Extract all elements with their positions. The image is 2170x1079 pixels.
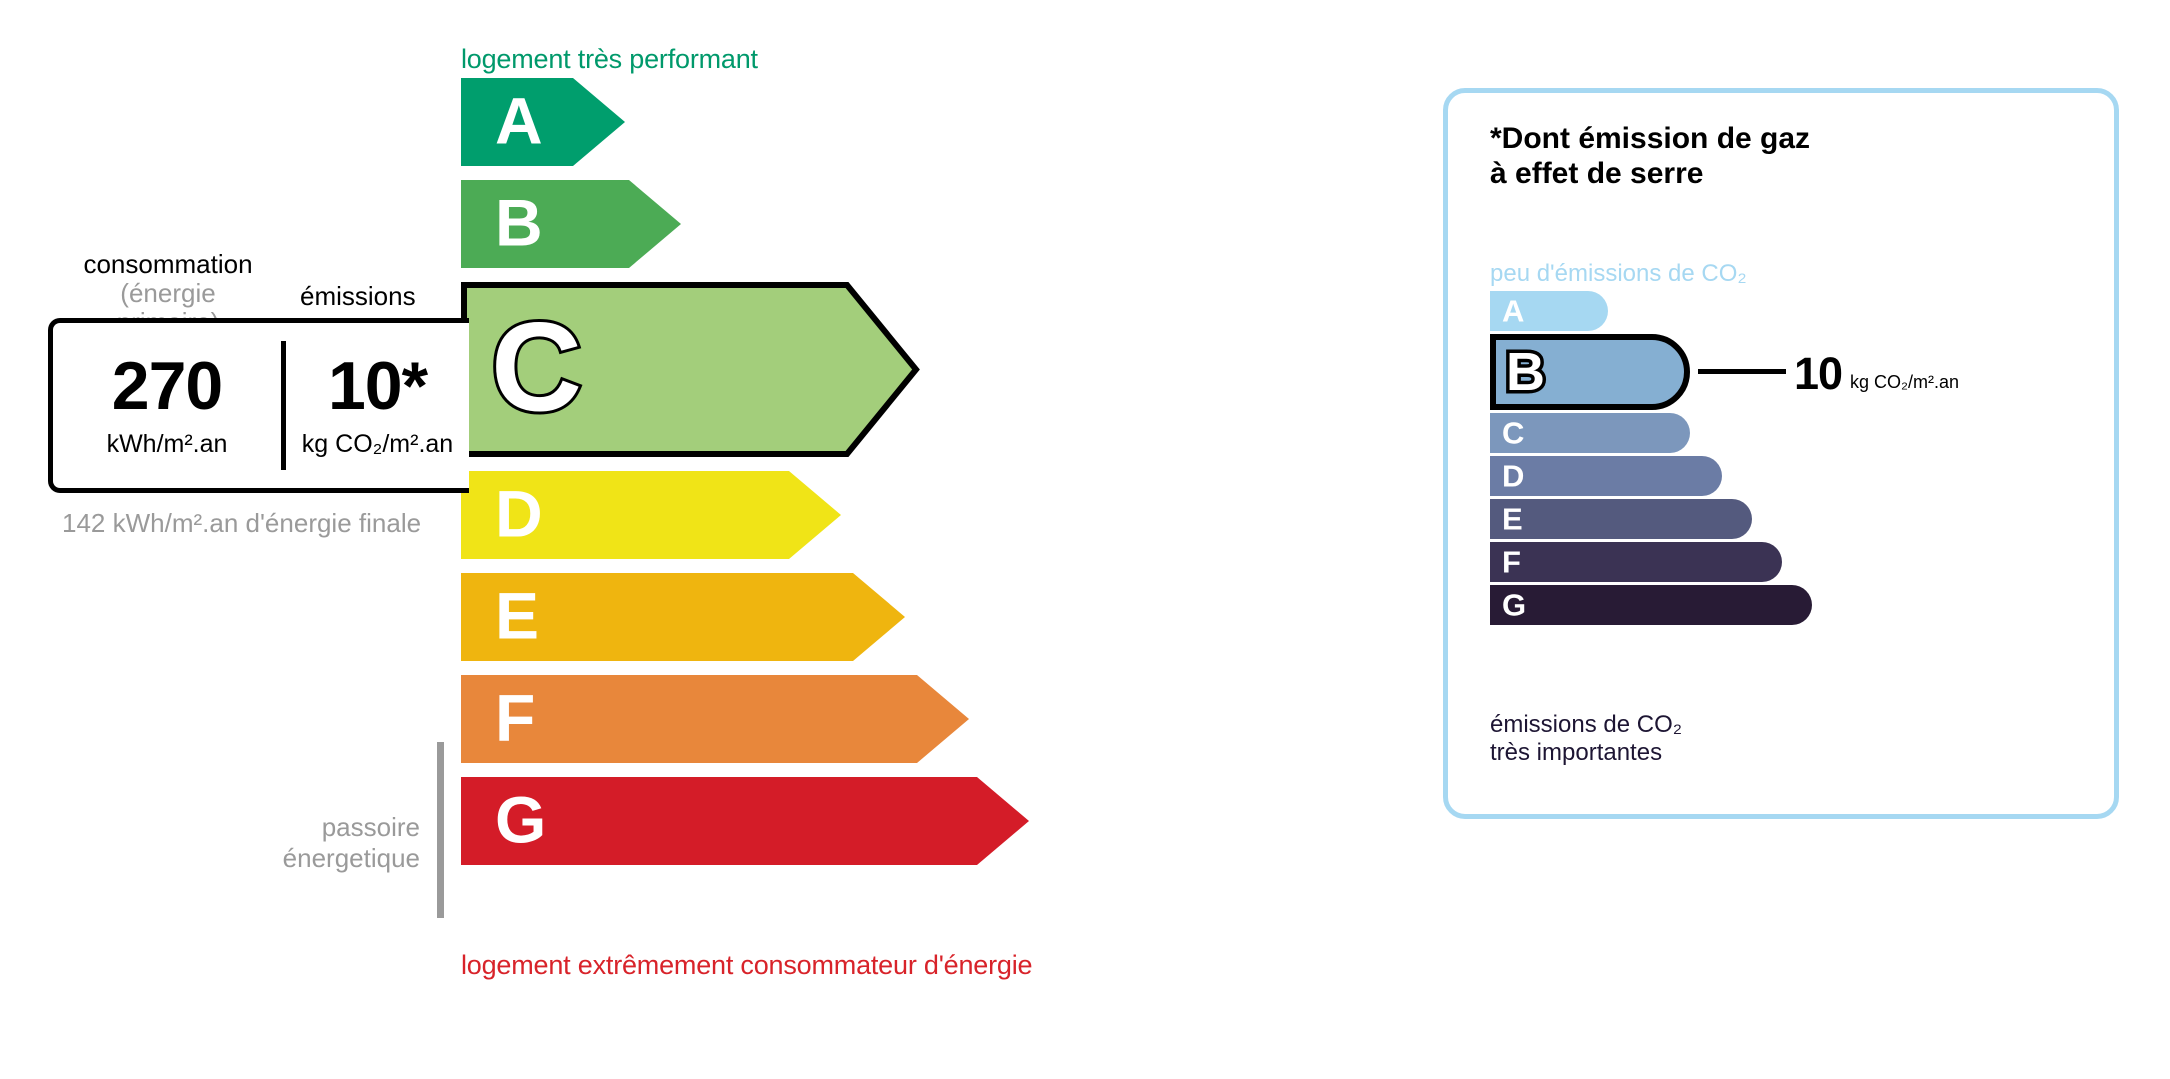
co2-bar-fill-e [1490, 499, 1752, 539]
energy-band-letter-c: C [491, 304, 582, 430]
energy-band-e: E [461, 573, 1261, 661]
energy-band-f: F [461, 675, 1261, 763]
passoire-marker-bar [437, 742, 444, 918]
co2-selected-value: 10 [1794, 351, 1842, 396]
energy-band-c: C [461, 282, 1261, 457]
co2-bar-letter-g: G [1502, 590, 1526, 621]
final-energy-label: 142 kWh/m².an d'énergie finale [62, 508, 421, 539]
primary-energy-unit: kWh/m².an [107, 430, 228, 459]
co2-unit: kg CO₂/m².an [302, 430, 453, 459]
co2-bar-f: F [1490, 542, 2090, 582]
co2-bar-letter-a: A [1502, 296, 1524, 327]
co2-high-emissions-caption: émissions de CO₂ très importantes [1490, 711, 1682, 768]
co2-bar-letter-d: D [1502, 461, 1524, 492]
energy-band-a: A [461, 78, 1261, 166]
primary-energy-value: 270 [112, 352, 222, 420]
energy-band-b: B [461, 180, 1261, 268]
passoire-label: passoire énergetique [240, 812, 420, 873]
caption-very-efficient: logement très performant [461, 44, 758, 75]
co2-bar-d: D [1490, 456, 2090, 496]
energy-band-letter-g: G [495, 787, 546, 853]
co2-bar-letter-e: E [1502, 504, 1523, 535]
value-box: 270 kWh/m².an 10* kg CO₂/m².an [48, 318, 469, 493]
co2-leader-line [1698, 369, 1786, 374]
co2-value: 10* [328, 352, 427, 420]
energy-band-letter-a: A [495, 88, 543, 154]
emissions-label: émissions [300, 281, 416, 312]
energy-band-letter-b: B [495, 190, 543, 256]
co2-value-cell: 10* kg CO₂/m².an [286, 323, 469, 488]
co2-bar-fill-f [1490, 542, 1782, 582]
co2-bar-e: E [1490, 499, 2090, 539]
energy-band-g: G [461, 777, 1261, 865]
co2-bar-fill-d [1490, 456, 1722, 496]
energy-band-letter-f: F [495, 685, 535, 751]
co2-bar-list: AB10kg CO₂/m².anCDEFG [1490, 291, 2090, 628]
co2-bar-letter-c: C [1502, 418, 1524, 449]
energy-band-list: ABCDEFG [461, 78, 1261, 865]
co2-selected-unit: kg CO₂/m².an [1850, 372, 1959, 393]
caption-very-consuming: logement extrêmement consommateur d'éner… [461, 950, 1032, 981]
co2-panel: *Dont émission de gaz à effet de serre p… [1443, 88, 2119, 819]
energy-band-d: D [461, 471, 1261, 559]
primary-energy-value-cell: 270 kWh/m².an [53, 323, 281, 488]
energy-band-arrow-g [461, 777, 1033, 865]
energy-band-arrow-a [461, 78, 629, 166]
co2-bar-letter-f: F [1502, 547, 1521, 578]
energy-band-letter-d: D [495, 481, 543, 547]
co2-bar-letter-b: B [1506, 345, 1545, 399]
co2-bar-c: C [1490, 413, 2090, 453]
co2-bar-g: G [1490, 585, 2090, 625]
energy-band-letter-e: E [495, 583, 539, 649]
co2-panel-title: *Dont émission de gaz à effet de serre [1490, 121, 1810, 192]
consumption-label: consommation [68, 250, 268, 279]
co2-low-emissions-caption: peu d'émissions de CO₂ [1490, 260, 1747, 288]
co2-bar-fill-g [1490, 585, 1812, 625]
energy-band-arrow-f [461, 675, 973, 763]
co2-bar-b: B10kg CO₂/m².an [1490, 334, 2090, 410]
co2-bar-a: A [1490, 291, 2090, 331]
